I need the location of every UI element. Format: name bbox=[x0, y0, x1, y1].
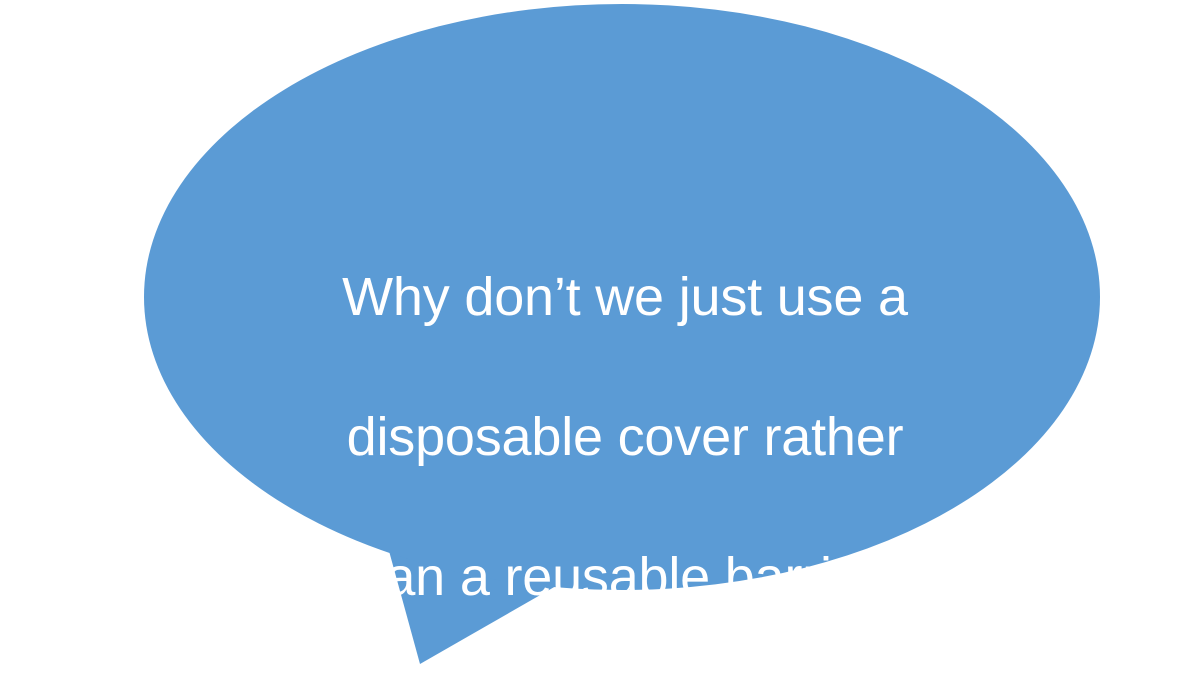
speech-bubble-body[interactable] bbox=[144, 4, 1100, 590]
speech-bubble-group[interactable] bbox=[144, 4, 1100, 664]
slide-canvas: Why don’t we just use a disposable cover… bbox=[0, 0, 1200, 675]
speech-bubble-shape[interactable] bbox=[0, 0, 1200, 675]
